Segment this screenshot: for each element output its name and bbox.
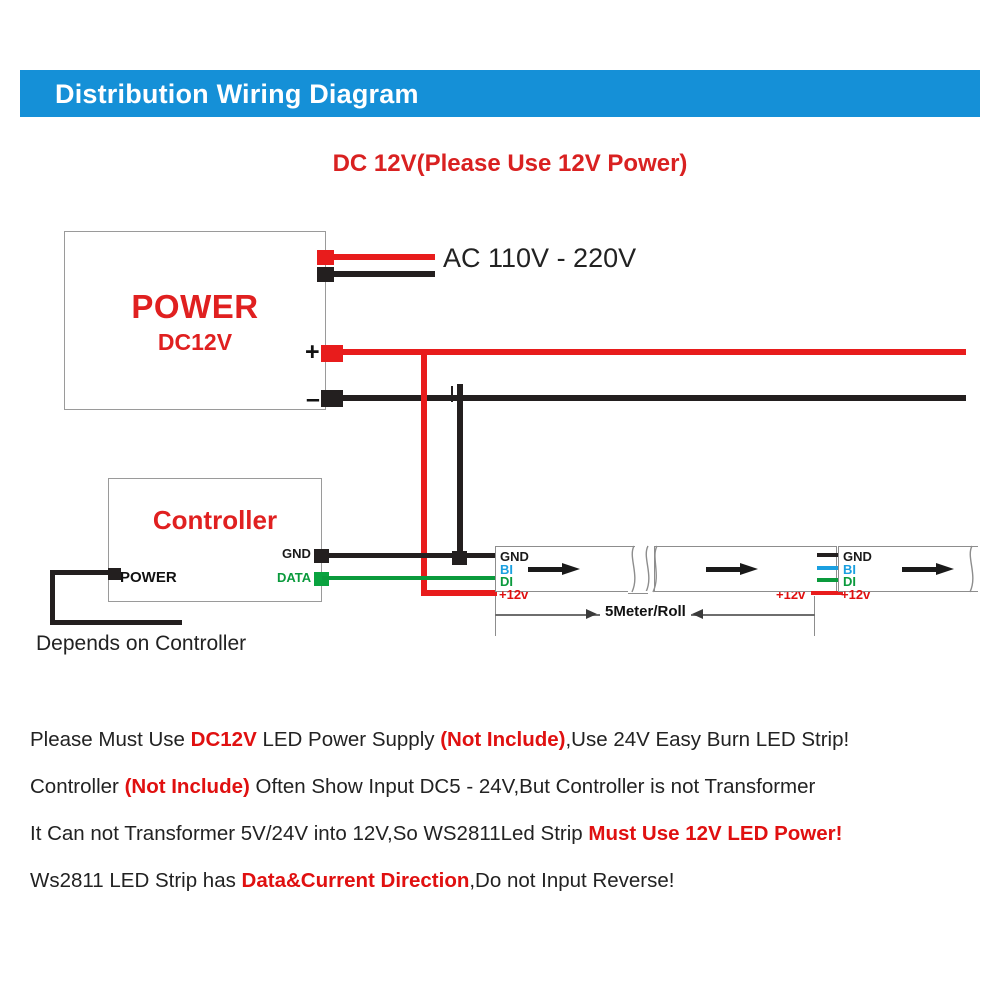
strip-2-direction-arrow-icon bbox=[706, 563, 758, 575]
notes-block: Please Must Use DC12V LED Power Supply (… bbox=[30, 728, 980, 916]
power-supply-title: POWER bbox=[64, 288, 326, 326]
ac-input-label: AC 110V - 220V bbox=[443, 243, 636, 274]
note-line: Controller (Not Include) Often Show Inpu… bbox=[30, 775, 980, 799]
dimension-tick-left bbox=[495, 596, 496, 636]
strip-3-right-edge-icon bbox=[962, 545, 982, 593]
note-line: Please Must Use DC12V LED Power Supply (… bbox=[30, 728, 980, 752]
ac-neutral-wire bbox=[330, 271, 435, 277]
controller-data-wire bbox=[322, 576, 497, 580]
dc-positive-bus-wire bbox=[338, 349, 966, 355]
positive-to-strip-wire bbox=[421, 590, 497, 596]
controller-data-label: DATA bbox=[277, 572, 311, 584]
strip-1-direction-arrow-icon bbox=[528, 563, 580, 575]
depends-on-controller-note: Depends on Controller bbox=[36, 632, 246, 656]
controller-gnd-wire bbox=[322, 553, 497, 558]
dimension-arrow-left-icon bbox=[586, 609, 597, 619]
subtitle-voltage-warning: DC 12V(Please Use 12V Power) bbox=[0, 150, 1000, 178]
controller-power-wire-top bbox=[50, 570, 112, 575]
dimension-arrow-right-icon bbox=[692, 609, 703, 619]
controller-title: Controller bbox=[108, 505, 322, 536]
strip-3-direction-arrow-icon bbox=[902, 563, 954, 575]
controller-power-wire-left bbox=[50, 570, 55, 625]
dimension-tick-right bbox=[814, 596, 815, 636]
plus-sign-label: + bbox=[305, 342, 320, 362]
strip-1-in-label-12v: +12v bbox=[499, 589, 528, 601]
strip-2-left-edge-icon bbox=[648, 545, 662, 593]
negative-drop-tick bbox=[451, 386, 453, 402]
strip-3-in-label-12v: +12v bbox=[841, 589, 870, 601]
controller-power-wire-bottom bbox=[50, 620, 182, 625]
controller-gnd-label: GND bbox=[282, 548, 311, 560]
negative-drop-wire bbox=[457, 384, 463, 559]
note-line: It Can not Transformer 5V/24V into 12V,S… bbox=[30, 822, 980, 846]
power-supply-voltage-label: DC12V bbox=[64, 329, 326, 356]
note-line: Ws2811 LED Strip has Data&Current Direct… bbox=[30, 869, 980, 893]
ac-live-wire bbox=[330, 254, 435, 260]
positive-drop-wire bbox=[421, 349, 427, 596]
controller-power-label: POWER bbox=[120, 569, 177, 586]
dimension-label: 5Meter/Roll bbox=[600, 603, 691, 620]
dc-negative-bus-wire bbox=[338, 395, 966, 401]
page-title: Distribution Wiring Diagram bbox=[55, 76, 855, 112]
minus-sign-label: – bbox=[306, 389, 320, 409]
wiring-diagram-canvas: Distribution Wiring Diagram DC 12V(Pleas… bbox=[0, 0, 1000, 1000]
